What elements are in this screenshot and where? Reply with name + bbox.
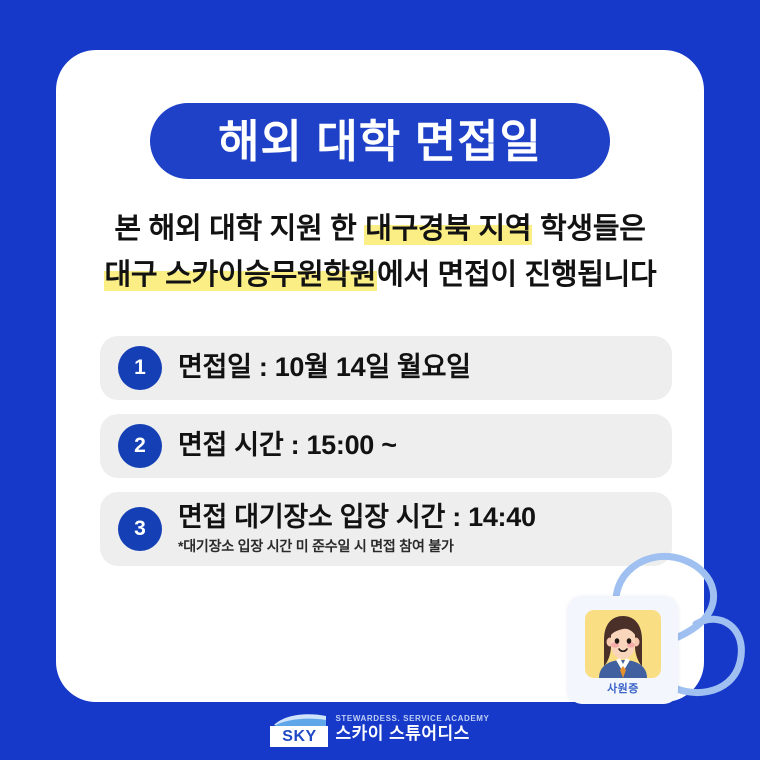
subtitle-line1-highlight: 대구경북 지역 xyxy=(364,213,532,245)
subtitle-line2-after: 에서 면접이 진행됩니다 xyxy=(377,259,656,291)
page-title: 해외 대학 면접일 xyxy=(218,119,542,164)
logo-wordmark: STEWARDESS. SERVICE ACADEMY 스카이 스튜어디스 xyxy=(335,714,489,744)
subtitle-line-2: 대구 스카이승무원학원에서 면접이 진행됩니다 xyxy=(56,252,704,298)
list-item-number-badge: 2 xyxy=(118,424,162,468)
id-photo xyxy=(585,610,661,678)
title-pill: 해외 대학 면접일 xyxy=(150,103,610,179)
list-item-title: 면접 대기장소 입장 시간 : 14:40 xyxy=(178,502,536,534)
subtitle-line2-highlight: 대구 스카이승무원학원 xyxy=(104,259,378,291)
logo-english-tagline: STEWARDESS. SERVICE ACADEMY xyxy=(335,714,489,724)
list-item-title: 면접 시간 : 15:00 ~ xyxy=(178,430,397,462)
list-item-body: 면접 대기장소 입장 시간 : 14:40 *대기장소 입장 시간 미 준수일 … xyxy=(178,502,536,557)
footer-logo: SKY STEWARDESS. SERVICE ACADEMY 스카이 스튜어디… xyxy=(0,706,760,752)
list-item-body: 면접 시간 : 15:00 ~ xyxy=(178,430,397,462)
list-item-body: 면접일 : 10월 14일 월요일 xyxy=(178,352,471,384)
info-list: 1 면접일 : 10월 14일 월요일 2 면접 시간 : 15:00 ~ 3 … xyxy=(100,336,672,580)
list-item: 1 면접일 : 10월 14일 월요일 xyxy=(100,336,672,400)
subtitle-line-1: 본 해외 대학 지원 한 대구경북 지역 학생들은 xyxy=(56,206,704,252)
poster-canvas: 해외 대학 면접일 본 해외 대학 지원 한 대구경북 지역 학생들은 대구 스… xyxy=(0,0,760,760)
list-item: 3 면접 대기장소 입장 시간 : 14:40 *대기장소 입장 시간 미 준수… xyxy=(100,492,672,566)
id-badge-card: 사원증 xyxy=(568,596,678,704)
person-avatar-icon xyxy=(585,610,661,678)
list-item: 2 면접 시간 : 15:00 ~ xyxy=(100,414,672,478)
subtitle-line1-before: 본 해외 대학 지원 한 xyxy=(114,213,364,245)
list-item-note: *대기장소 입장 시간 미 준수일 시 면접 참여 불가 xyxy=(178,536,536,556)
logo-korean-name: 스카이 스튜어디스 xyxy=(335,724,489,744)
sky-logo-text: SKY xyxy=(270,726,328,747)
list-item-number-badge: 3 xyxy=(118,507,162,551)
swoosh-icon xyxy=(274,712,326,727)
list-item-title: 면접일 : 10월 14일 월요일 xyxy=(178,352,471,384)
sky-logo-mark: SKY xyxy=(270,711,328,747)
list-item-number-badge: 1 xyxy=(118,346,162,390)
id-badge-caption: 사원증 xyxy=(568,680,678,696)
subtitle-line1-after: 학생들은 xyxy=(532,213,645,245)
subtitle-block: 본 해외 대학 지원 한 대구경북 지역 학생들은 대구 스카이승무원학원에서 … xyxy=(56,206,704,298)
